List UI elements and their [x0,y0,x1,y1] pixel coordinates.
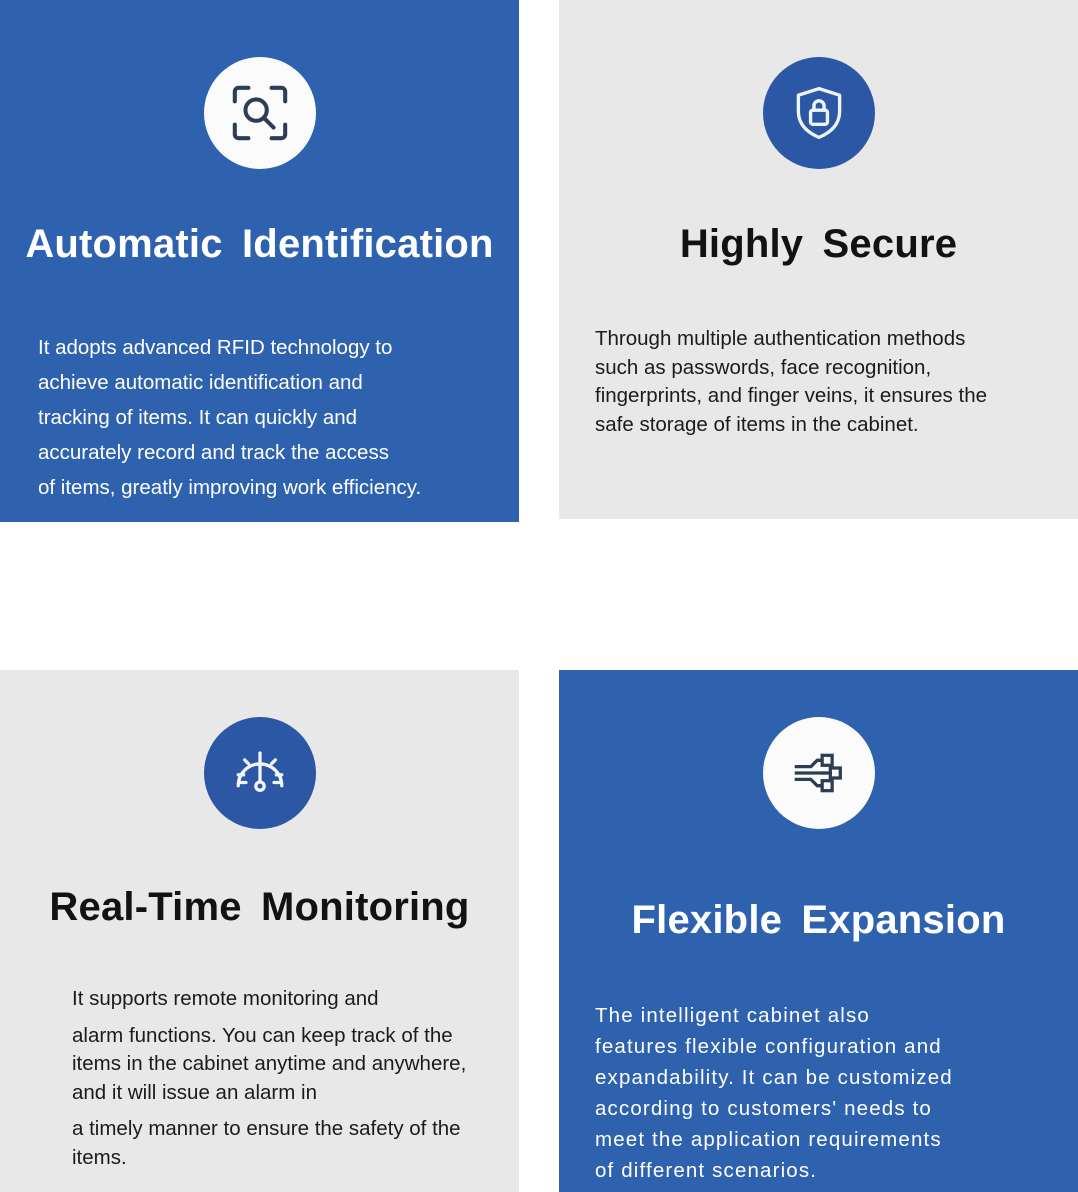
body-line: a timely manner to ensure the safety of … [72,1115,495,1144]
card-title: Flexible Expansion [559,898,1078,943]
card-title: Highly Secure [559,222,1078,267]
feature-card-flexible-expansion[interactable]: Flexible Expansion The intelligent cabin… [559,670,1078,1192]
body-line: safe storage of items in the cabinet. [595,411,1064,440]
body-line: It adopts advanced RFID technology to [38,330,499,365]
body-line: items. [72,1144,495,1173]
card-body: It adopts advanced RFID technology to ac… [38,330,499,505]
body-line: tracking of items. It can quickly and [38,400,499,435]
card-title: Automatic Identification [0,222,519,267]
body-line: according to customers' needs to [595,1093,953,1124]
body-line: of items, greatly improving work efficie… [38,470,499,505]
card-body: It supports remote monitoring and alarm … [72,985,495,1172]
scan-search-icon [204,57,316,169]
body-line: meet the application requirements [595,1124,953,1155]
body-line: features flexible configuration and [595,1031,953,1062]
body-line: alarm functions. You can keep track of t… [72,1022,495,1051]
feature-card-grid: Automatic Identification It adopts advan… [0,0,1078,1192]
feature-card-real-time-monitoring[interactable]: Real-Time Monitoring It supports remote … [0,670,519,1192]
card-body: Through multiple authentication methods … [595,325,1064,439]
body-line: Through multiple authentication methods [595,325,1064,354]
body-line: achieve automatic identification and [38,365,499,400]
shield-lock-icon [763,57,875,169]
feature-card-highly-secure[interactable]: Highly Secure Through multiple authentic… [559,0,1078,519]
body-line: expandability. It can be customized [595,1062,953,1093]
network-expand-icon [763,717,875,829]
feature-card-automatic-identification[interactable]: Automatic Identification It adopts advan… [0,0,519,522]
body-line: of different scenarios. [595,1155,953,1186]
body-line: such as passwords, face recognition, [595,354,1064,383]
card-title: Real-Time Monitoring [0,885,519,930]
body-line: It supports remote monitoring and [72,985,495,1014]
card-body: The intelligent cabinet also features fl… [595,1000,953,1186]
body-line: The intelligent cabinet also [595,1000,953,1031]
body-line: fingerprints, and finger veins, it ensur… [595,382,1064,411]
body-line: and it will issue an alarm in [72,1079,495,1108]
gauge-icon [204,717,316,829]
body-line: items in the cabinet anytime and anywher… [72,1050,495,1079]
body-line: accurately record and track the access [38,435,499,470]
